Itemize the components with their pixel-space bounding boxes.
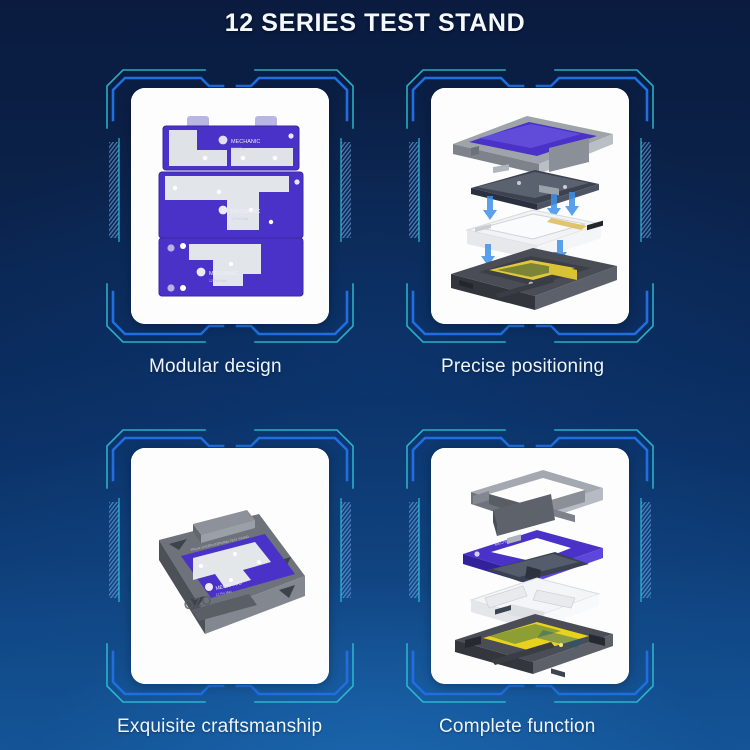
feature-cell-complete-function[interactable]: MECHANIC bbox=[405, 424, 655, 750]
feature-image-precise-positioning bbox=[431, 88, 629, 324]
svg-text:12 Pro Max: 12 Pro Max bbox=[209, 279, 227, 283]
svg-text:MECHANIC: MECHANIC bbox=[231, 139, 260, 145]
feature-image-exquisite-craftsmanship: MECHANIC 12 Pro Max OZO iPhone 12/12Pro/… bbox=[131, 448, 329, 684]
product-feature-graphic: 12 SERIES TEST STAND bbox=[0, 0, 750, 750]
feature-grid: MECHANIC 12/12Pro MECHANIC 12 bbox=[0, 46, 750, 750]
feature-cell-exquisite-craftsmanship[interactable]: MECHANIC 12 Pro Max OZO iPhone 12/12Pro/… bbox=[105, 424, 355, 750]
svg-text:12/12Pro: 12/12Pro bbox=[231, 147, 245, 151]
feature-caption: Exquisite craftsmanship bbox=[105, 716, 355, 738]
feature-cell-modular-design[interactable]: MECHANIC 12/12Pro MECHANIC 12 bbox=[105, 64, 355, 394]
feature-caption: Complete function bbox=[405, 716, 655, 738]
svg-text:MECHANIC: MECHANIC bbox=[209, 271, 238, 277]
feature-image-modular-design: MECHANIC 12/12Pro MECHANIC 12 bbox=[131, 88, 329, 324]
feature-cell-precise-positioning[interactable]: Precise positioning bbox=[405, 64, 655, 394]
svg-text:MECHANIC: MECHANIC bbox=[231, 209, 260, 215]
svg-text:12 Pro Max: 12 Pro Max bbox=[231, 217, 249, 221]
feature-image-complete-function: MECHANIC bbox=[431, 448, 629, 684]
page-title: 12 SERIES TEST STAND bbox=[0, 0, 750, 46]
feature-caption: Precise positioning bbox=[405, 356, 655, 378]
feature-caption: Modular design bbox=[105, 356, 355, 378]
